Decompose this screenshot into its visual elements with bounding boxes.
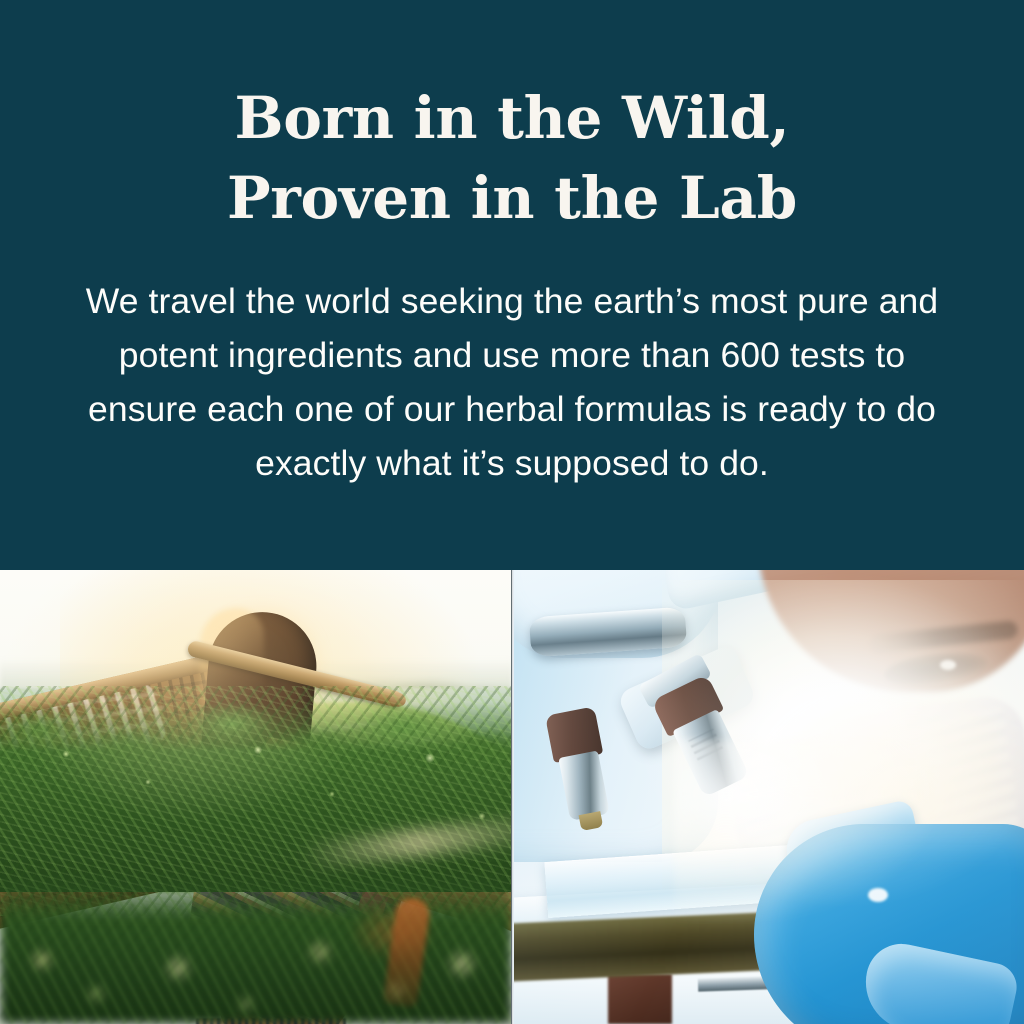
- cool-color-wash: [512, 570, 1024, 1024]
- laboratory-microscope-photo: [512, 570, 1024, 1024]
- promo-card: Born in the Wild, Proven in the Lab We t…: [0, 0, 1024, 1024]
- subcopy-line-1: We travel the world seeking the earth’s …: [60, 274, 965, 328]
- photo-row: [0, 570, 1024, 1024]
- page-title: Born in the Wild, Proven in the Lab: [227, 78, 797, 238]
- warm-color-wash: [0, 570, 512, 1024]
- text-panel: Born in the Wild, Proven in the Lab We t…: [0, 0, 1024, 570]
- headline-line-1: Born in the Wild,: [227, 78, 797, 158]
- subcopy-line-4: exactly what it’s supposed to do.: [60, 436, 965, 490]
- subcopy-paragraph: We travel the world seeking the earth’s …: [60, 274, 965, 490]
- photo-divider: [511, 570, 514, 1024]
- headline-line-2: Proven in the Lab: [227, 158, 797, 238]
- subcopy-line-2: potent ingredients and use more than 600…: [60, 328, 965, 382]
- tea-harvest-photo: [0, 570, 512, 1024]
- subcopy-line-3: ensure each one of our herbal formulas i…: [60, 382, 965, 436]
